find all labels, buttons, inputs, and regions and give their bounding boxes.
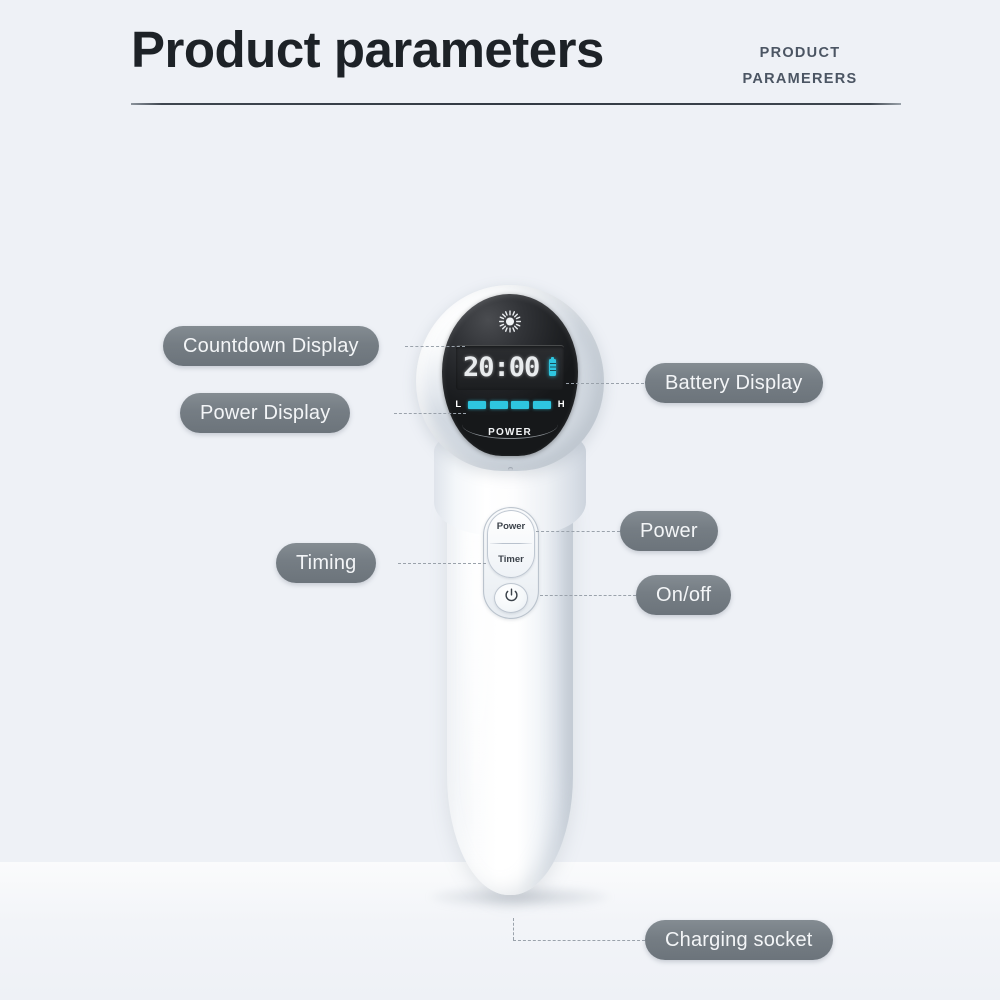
lead-battery-display xyxy=(566,383,654,384)
power-scale-low-label: L xyxy=(455,400,461,410)
lead-countdown-display xyxy=(405,346,465,347)
power-bars xyxy=(468,401,551,409)
callout-label: Timing xyxy=(296,552,356,575)
lcd-screen: 20:00 xyxy=(456,345,564,390)
callout-battery-display[interactable]: Battery Display xyxy=(645,363,823,403)
callout-countdown-display[interactable]: Countdown Display xyxy=(163,326,379,366)
device-button-cluster: Power Timer xyxy=(483,507,539,619)
lead-charging-socket-vertical xyxy=(513,918,514,940)
header-subtitle-line2: PARAMERERS xyxy=(700,66,900,92)
callout-label: On/off xyxy=(656,584,711,607)
lead-power-display xyxy=(394,413,466,414)
lead-onoff xyxy=(540,595,636,596)
header-subtitle-line1: PRODUCT xyxy=(700,40,900,66)
header-subtitle: PRODUCT PARAMERERS xyxy=(700,40,900,92)
power-bar xyxy=(468,401,486,409)
onoff-button[interactable] xyxy=(494,583,528,613)
callout-label: Power Display xyxy=(200,402,330,425)
countdown-value: 20:00 xyxy=(463,353,539,383)
rocker-divider xyxy=(490,543,532,544)
lead-power-button xyxy=(536,531,620,532)
page-header: Product parameters PRODUCT PARAMERERS xyxy=(0,0,1000,120)
callout-onoff[interactable]: On/off xyxy=(636,575,731,615)
device-vent-dot xyxy=(508,467,513,471)
power-bar xyxy=(533,401,551,409)
timer-button-label[interactable]: Timer xyxy=(487,554,535,565)
battery-icon xyxy=(549,359,556,376)
callout-label: Countdown Display xyxy=(183,335,359,358)
sun-burst-icon xyxy=(499,310,522,333)
power-bar xyxy=(490,401,508,409)
power-button-label[interactable]: Power xyxy=(487,521,535,532)
power-timer-rocker[interactable]: Power Timer xyxy=(487,510,535,578)
callout-label: Power xyxy=(640,520,698,543)
callout-label: Battery Display xyxy=(665,372,803,395)
callout-label: Charging socket xyxy=(665,929,813,952)
page-title: Product parameters xyxy=(131,22,604,78)
power-symbol-icon xyxy=(503,587,520,609)
callout-charging-socket[interactable]: Charging socket xyxy=(645,920,833,960)
callout-power[interactable]: Power xyxy=(620,511,718,551)
power-display-label: POWER xyxy=(442,427,578,438)
callout-power-display[interactable]: Power Display xyxy=(180,393,350,433)
lead-timing xyxy=(398,563,486,564)
power-bar xyxy=(511,401,529,409)
title-divider xyxy=(131,103,901,105)
callout-timing[interactable]: Timing xyxy=(276,543,376,583)
lead-charging-socket xyxy=(513,940,645,941)
device-display-panel: 20:00 L H POWER xyxy=(442,294,578,456)
power-scale-high-label: H xyxy=(558,400,565,410)
